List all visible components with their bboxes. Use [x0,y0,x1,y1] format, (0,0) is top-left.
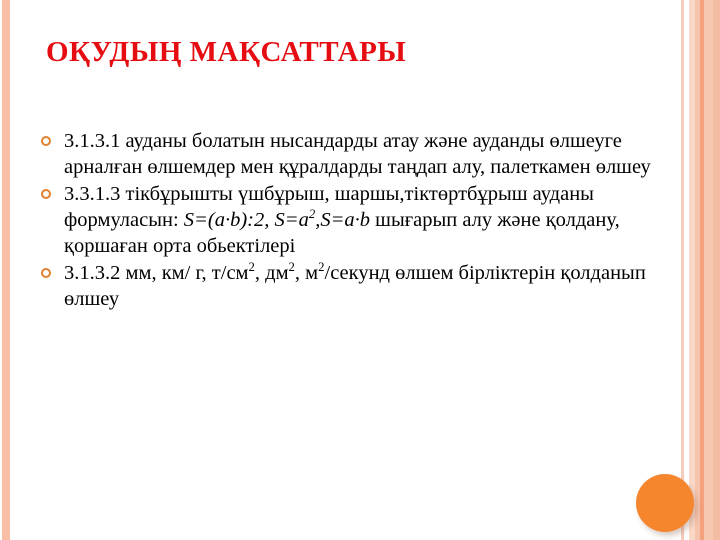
list-item: 3.1.3.2 мм, км/ г, т/см2, дм2, м2/секунд… [38,260,658,312]
unit-separator-1: , дм [255,262,289,284]
left-border-stripe [2,0,10,540]
bullet-ring-icon [41,136,51,146]
formula-area-rectangle: S=a·b [320,209,370,231]
formula-area-square-base: S=a [275,209,309,231]
right-border-stripe-1 [689,0,695,540]
list-item: 3.3.1.3 тікбұрышты үшбұрыш, шаршы,тіктөр… [38,181,658,259]
bullet-ring-icon [41,268,51,278]
formula-separator-1: , [264,209,274,231]
orange-circle-decoration [636,474,694,532]
right-border-stripe-4 [704,0,713,540]
list-item: 3.1.3.1 ауданы болатын нысандарды атау ж… [38,128,658,180]
right-border-stripe-2 [695,0,700,540]
bullet-ring-icon [41,189,51,199]
formula-area-triangle: S=(a·b):2 [184,209,264,231]
slide-title: ОҚУДЫҢ МАҚСАТТАРЫ [46,36,666,69]
list-item-lead: 3.1.3.2 мм, км/ г, т/см [64,262,249,284]
slide-canvas: ОҚУДЫҢ МАҚСАТТАРЫ 3.1.3.1 ауданы болатын… [0,0,720,540]
unit-separator-2: , м [295,262,318,284]
list-item-text: 3.1.3.1 ауданы болатын нысандарды атау ж… [64,130,651,178]
right-border-stripe-3 [700,0,704,540]
learning-objectives-list: 3.1.3.1 ауданы болатын нысандарды атау ж… [38,128,658,313]
right-border-stripe-thin [681,0,684,540]
right-border-stripe-5 [713,0,720,540]
